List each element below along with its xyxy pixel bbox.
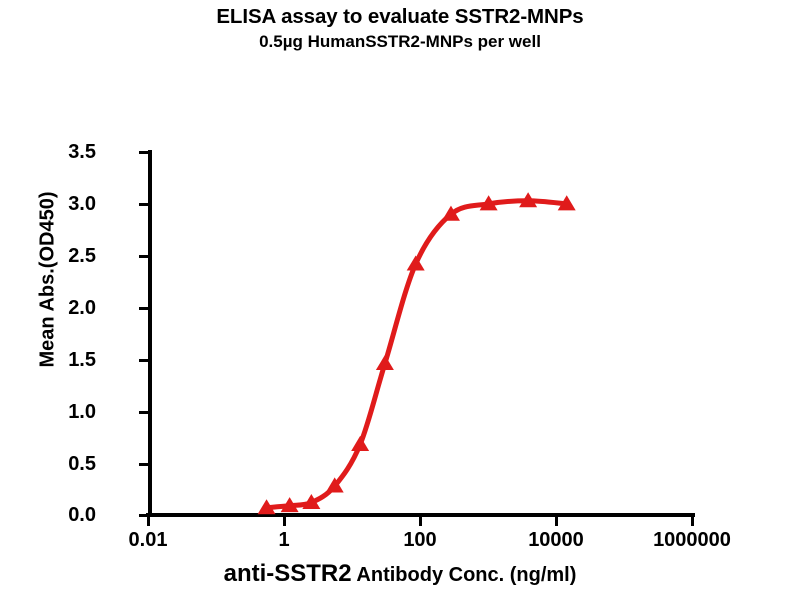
y-tick-1.5	[139, 359, 148, 362]
data-point-marker	[376, 355, 394, 370]
y-tick-label-0.5: 0.5	[36, 454, 96, 474]
y-tick-1.0	[139, 411, 148, 414]
data-markers	[258, 192, 576, 514]
x-tick-label-10000: 10000	[528, 529, 584, 551]
x-tick-10000	[555, 517, 558, 526]
data-point-marker	[558, 195, 576, 210]
y-tick-2.5	[139, 255, 148, 258]
chart-title: ELISA assay to evaluate SSTR2-MNPs	[0, 4, 800, 30]
chart-title-block: ELISA assay to evaluate SSTR2-MNPs 0.5µg…	[0, 4, 800, 53]
elisa-chart-figure: ELISA assay to evaluate SSTR2-MNPs 0.5µg…	[0, 0, 800, 600]
data-point-marker	[519, 192, 537, 207]
x-tick-label-100: 100	[403, 529, 436, 551]
x-tick-0.01	[147, 517, 150, 526]
y-tick-2.0	[139, 307, 148, 310]
y-tick-3.0	[139, 203, 148, 206]
x-tick-label-1: 1	[278, 529, 289, 551]
y-axis-label: Mean Abs.(OD450)	[37, 120, 60, 440]
data-point-marker	[442, 206, 460, 221]
x-axis-label-rest: Antibody Conc. (ng/ml)	[352, 564, 577, 586]
data-point-marker	[351, 436, 369, 451]
data-point-marker	[480, 195, 498, 210]
data-point-marker	[258, 499, 276, 514]
data-point-marker	[281, 497, 299, 512]
chart-subtitle: 0.5µg HumanSSTR2-MNPs per well	[0, 30, 800, 53]
x-tick-label-1000000: 1000000	[653, 529, 731, 551]
y-axis-line	[148, 150, 152, 517]
y-tick-0.5	[139, 463, 148, 466]
data-point-marker	[407, 255, 425, 270]
y-tick-3.5	[139, 151, 148, 154]
data-point-marker	[326, 477, 344, 492]
x-tick-100	[419, 517, 422, 526]
x-axis-label: anti-SSTR2 Antibody Conc. (ng/ml)	[0, 560, 800, 588]
y-tick-label-0.0: 0.0	[36, 505, 96, 525]
data-point-marker	[302, 494, 320, 509]
x-tick-1	[283, 517, 286, 526]
data-curve	[267, 201, 567, 508]
x-tick-1000000	[691, 517, 694, 526]
x-axis-label-emphasis: anti-SSTR2	[224, 560, 352, 587]
x-tick-label-0.01: 0.01	[129, 529, 168, 551]
data-layer	[0, 0, 800, 600]
